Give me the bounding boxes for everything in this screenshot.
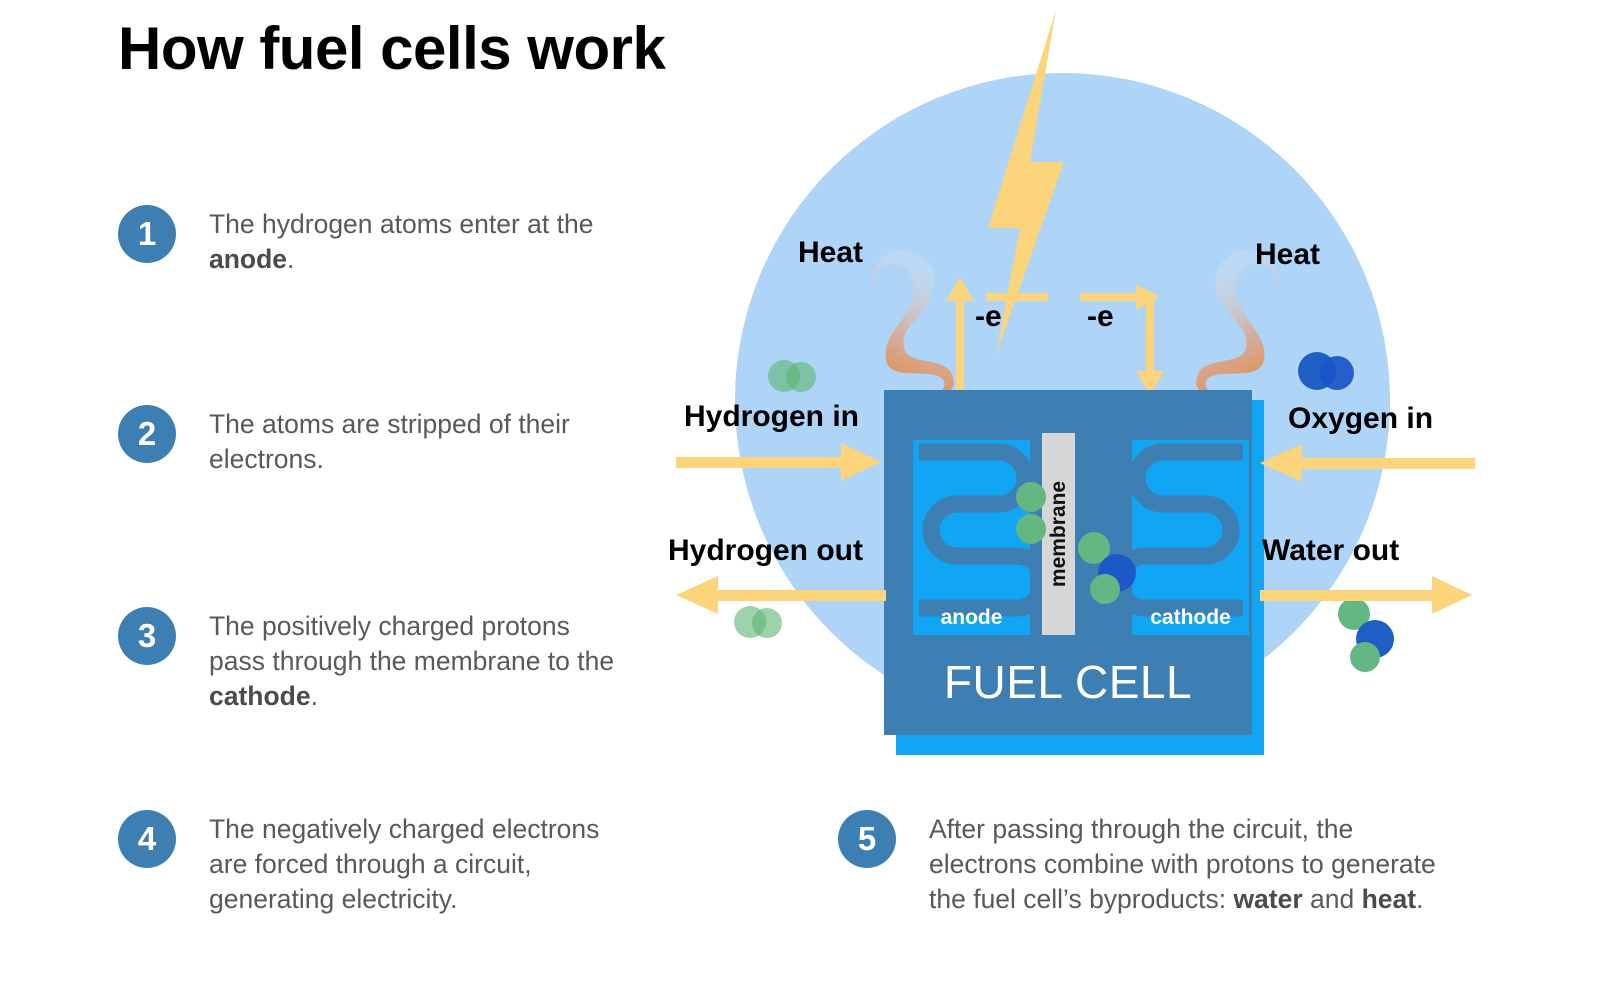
water-out-label: Water out — [1262, 534, 1399, 568]
electron-up-arrow — [946, 277, 974, 395]
water-molecule-icon-cathode — [1078, 532, 1140, 604]
hydrogen-out-arrow — [676, 578, 886, 612]
step-text-1-tail: . — [287, 244, 294, 274]
hydrogen-in-arrow — [676, 445, 886, 479]
step-text-4: The negatively charged electrons are for… — [209, 810, 629, 917]
step-text-2: The atoms are stripped of their electron… — [209, 405, 629, 477]
step-number-badge-1: 1 — [118, 205, 176, 263]
step-number-badge-2: 2 — [118, 405, 176, 463]
fuel-cell-diagram: Heat Heat -e -e — [700, 0, 1600, 1000]
step-text-3: The positively charged protons pass thro… — [209, 607, 629, 714]
step-text-1: The hydrogen atoms enter at the anode. — [209, 205, 629, 277]
step-item-2: 2 The atoms are stripped of their electr… — [118, 405, 629, 477]
hydrogen-molecule-icon-in — [768, 360, 818, 394]
page-title: How fuel cells work — [118, 16, 665, 82]
step-item-4: 4 The negatively charged electrons are f… — [118, 810, 629, 917]
step-text-1-bold: anode — [209, 244, 287, 274]
heat-label-right: Heat — [1255, 238, 1320, 272]
membrane-bar: membrane — [1042, 433, 1075, 635]
fuel-cell-title: FUEL CELL — [884, 655, 1252, 709]
membrane-label: membrane — [1047, 481, 1071, 587]
hydrogen-out-label: Hydrogen out — [668, 534, 863, 568]
step-text-3-main: The positively charged protons pass thro… — [209, 611, 614, 676]
cathode-label: cathode — [1132, 606, 1249, 630]
oxygen-in-label: Oxygen in — [1288, 402, 1433, 436]
step-number-badge-4: 4 — [118, 810, 176, 868]
water-out-arrow — [1260, 578, 1475, 612]
oxygen-molecule-icon-in — [1298, 352, 1354, 390]
step-number-badge-3: 3 — [118, 607, 176, 665]
step-text-4-main: The negatively charged electrons are for… — [209, 814, 599, 914]
proton-anode-upper — [1016, 482, 1046, 512]
hydrogen-in-label: Hydrogen in — [684, 400, 859, 434]
electron-down-arrow — [1136, 293, 1164, 395]
electron-label-right: -e — [1087, 300, 1114, 334]
step-text-2-main: The atoms are stripped of their electron… — [209, 409, 570, 474]
anode-electrode: anode — [913, 440, 1030, 635]
cathode-electrode: cathode — [1132, 440, 1249, 635]
step-item-3: 3 The positively charged protons pass th… — [118, 607, 629, 714]
anode-label: anode — [913, 606, 1030, 630]
electron-circuit-arrows — [930, 275, 1180, 395]
step-text-1-main: The hydrogen atoms enter at the — [209, 209, 593, 239]
step-text-3-tail: . — [311, 681, 318, 711]
heat-label-left: Heat — [798, 236, 863, 270]
step-item-1: 1 The hydrogen atoms enter at the anode. — [118, 205, 629, 277]
oxygen-in-arrow — [1260, 446, 1475, 480]
electron-label-left: -e — [975, 300, 1002, 334]
step-text-3-bold: cathode — [209, 681, 311, 711]
proton-anode-lower — [1016, 514, 1046, 544]
